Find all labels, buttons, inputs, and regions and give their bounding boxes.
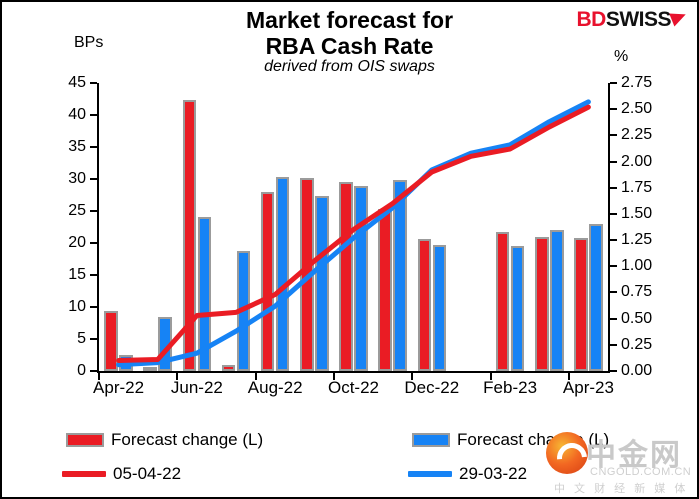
plot-area: 051015202530354045 0.000.250.500.751.001… — [99, 83, 608, 371]
line-series — [119, 107, 589, 360]
chart-legend: Forecast change (L)Forecast change (L)05… — [2, 426, 697, 496]
legend-label: 29-03-22 — [459, 464, 527, 484]
legend-label: Forecast change (L) — [457, 430, 609, 450]
right-tick-label: 0.00 — [621, 362, 652, 380]
title-line-1: Market forecast for — [246, 7, 453, 33]
left-tick — [90, 306, 97, 308]
right-tick-label: 0.25 — [621, 336, 652, 354]
left-tick — [90, 178, 97, 180]
right-axis-line — [608, 83, 610, 371]
title-line-2: RBA Cash Rate — [2, 34, 697, 60]
right-tick — [610, 82, 617, 84]
left-tick-label: 30 — [68, 170, 86, 188]
left-tick — [90, 338, 97, 340]
x-axis-line — [97, 371, 610, 373]
legend-bar-red[interactable]: Forecast change (L) — [66, 430, 263, 450]
x-tick-label: Aug-22 — [248, 378, 303, 398]
right-tick — [610, 291, 617, 293]
right-tick — [610, 265, 617, 267]
legend-line-swatch — [62, 471, 106, 477]
x-tick-label: Apr-22 — [93, 378, 144, 398]
legend-label: 05-04-22 — [113, 464, 181, 484]
chart-subtitle: derived from OIS swaps — [2, 58, 697, 76]
right-tick-label: 2.25 — [621, 126, 652, 144]
left-tick — [90, 146, 97, 148]
right-tick — [610, 161, 617, 163]
legend-bar-blue[interactable]: Forecast change (L) — [412, 430, 609, 450]
right-tick — [610, 370, 617, 372]
y-axis-unit-right: % — [614, 48, 628, 66]
left-tick — [90, 242, 97, 244]
x-tick-label: Dec-22 — [404, 378, 459, 398]
legend-bar-swatch — [412, 433, 450, 447]
right-tick — [610, 134, 617, 136]
right-tick — [610, 344, 617, 346]
y-axis-unit-left: BPs — [74, 34, 103, 52]
left-tick — [90, 114, 97, 116]
right-tick — [610, 239, 617, 241]
left-tick-label: 20 — [68, 234, 86, 252]
x-tick-label: Jun-22 — [171, 378, 223, 398]
x-tick-label: Feb-23 — [483, 378, 537, 398]
right-tick-label: 2.75 — [621, 74, 652, 92]
left-tick-label: 25 — [68, 202, 86, 220]
chart-page: BDSWISS Market forecast for RBA Cash Rat… — [0, 0, 699, 499]
left-tick-label: 45 — [68, 74, 86, 92]
right-tick — [610, 187, 617, 189]
left-tick-label: 35 — [68, 138, 86, 156]
left-tick — [90, 82, 97, 84]
page-title: Market forecast for RBA Cash Rate — [2, 8, 697, 60]
right-tick-label: 2.00 — [621, 153, 652, 171]
right-tick — [610, 318, 617, 320]
left-tick — [90, 210, 97, 212]
right-tick-label: 1.25 — [621, 231, 652, 249]
left-tick-label: 5 — [77, 330, 86, 348]
legend-line-blue[interactable]: 29-03-22 — [408, 464, 527, 484]
right-tick — [610, 108, 617, 110]
legend-line-swatch — [408, 471, 452, 477]
right-tick-label: 2.50 — [621, 100, 652, 118]
right-tick-label: 1.75 — [621, 179, 652, 197]
right-tick-label: 0.50 — [621, 310, 652, 328]
line-group — [99, 83, 608, 371]
right-tick-label: 1.00 — [621, 257, 652, 275]
legend-line-red[interactable]: 05-04-22 — [62, 464, 181, 484]
legend-bar-swatch — [66, 433, 104, 447]
left-tick-label: 0 — [77, 362, 86, 380]
x-tick-label: Apr-23 — [563, 378, 614, 398]
x-tick-label: Oct-22 — [328, 378, 379, 398]
right-tick-label: 1.50 — [621, 205, 652, 223]
legend-label: Forecast change (L) — [111, 430, 263, 450]
left-tick-label: 40 — [68, 106, 86, 124]
left-tick-label: 15 — [68, 266, 86, 284]
right-tick — [610, 213, 617, 215]
right-tick-label: 0.75 — [621, 283, 652, 301]
left-tick — [90, 370, 97, 372]
left-tick-label: 10 — [68, 298, 86, 316]
left-tick — [90, 274, 97, 276]
